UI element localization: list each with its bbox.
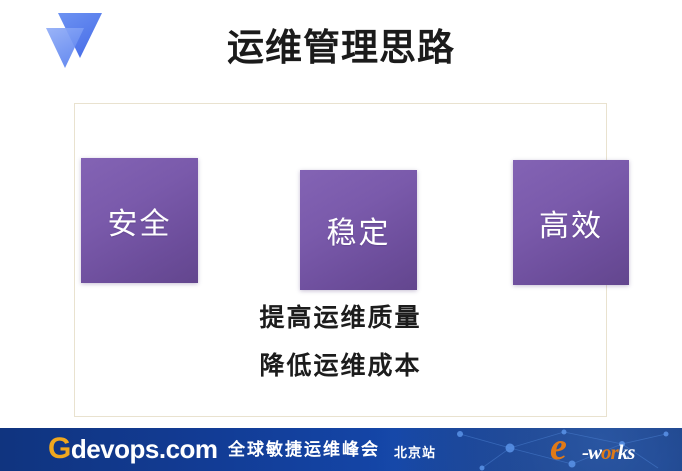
gdevops-initial: G [48, 432, 71, 465]
summit-city: 北京站 [394, 444, 436, 462]
pillar-label: 高效 [539, 201, 603, 245]
eworks-mark: e [550, 428, 567, 466]
goal-line-cost: 降低运维成本 [74, 342, 607, 390]
pillar-label: 稳定 [327, 208, 391, 252]
pillar-box-stability: 稳定 [300, 170, 417, 290]
eworks-wordmark: -works [582, 440, 634, 464]
footer-banner: Gdevops.com 全球敏捷运维峰会 北京站 e -works [0, 428, 682, 471]
pillar-label: 安全 [108, 199, 172, 243]
eworks-logo: e -works [550, 432, 678, 468]
eworks-word-part2: or [601, 440, 618, 464]
gdevops-logo: Gdevops.com [48, 433, 218, 465]
eworks-word-part1: -w [582, 440, 601, 464]
eworks-word-part3: ks [618, 440, 635, 464]
slide-canvas: 运维管理思路 安全 稳定 高效 提高运维质量 降低运维成本 [0, 0, 682, 471]
summit-name: 全球敏捷运维峰会 [228, 439, 380, 461]
gdevops-name: devops.com [71, 434, 218, 464]
page-title: 运维管理思路 [0, 23, 682, 73]
pillar-box-security: 安全 [81, 158, 198, 283]
goal-line-quality: 提高运维质量 [74, 294, 607, 342]
goal-statements: 提高运维质量 降低运维成本 [74, 294, 607, 390]
pillar-box-efficiency: 高效 [513, 160, 629, 285]
